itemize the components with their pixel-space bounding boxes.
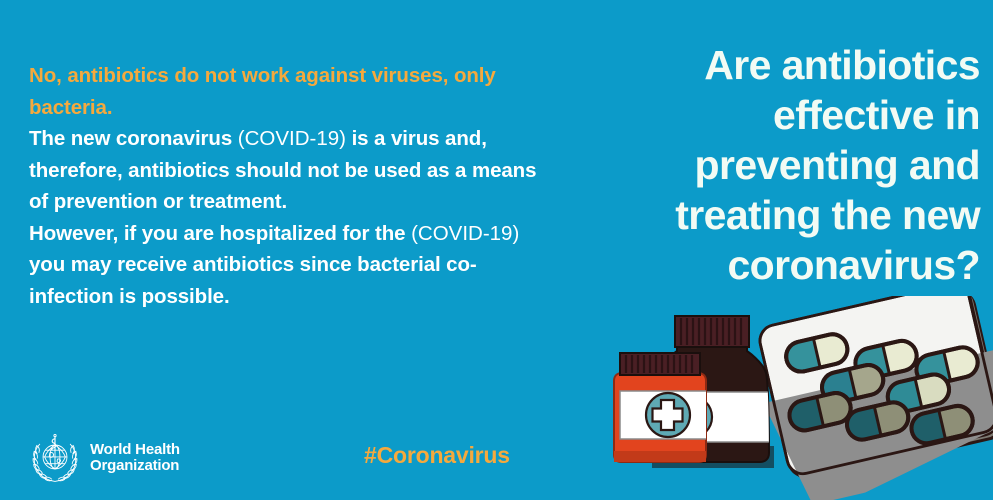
who-infographic-poster: No, antibiotics do not work against viru…	[0, 0, 993, 500]
hospitalization-text-after: you may receive antibiotics since bacter…	[29, 253, 477, 308]
covid-label-2: (COVID-19)	[411, 222, 519, 245]
body-copy: No, antibiotics do not work against viru…	[29, 60, 549, 312]
answer-paragraph: No, antibiotics do not work against viru…	[29, 60, 549, 123]
medicine-illustration	[600, 296, 993, 500]
explanation-paragraph: The new coronavirus (COVID-19) is a viru…	[29, 123, 549, 218]
explanation-text-before: The new coronavirus	[29, 127, 238, 150]
orange-bottle-cross-badge	[646, 393, 690, 437]
medicine-illustration-graphic	[600, 296, 993, 500]
who-wordmark-line-1: World Health	[90, 442, 180, 459]
hospitalization-text-before: However, if you are hospitalized for the	[29, 222, 411, 245]
covid-label-1: (COVID-19)	[238, 127, 346, 150]
blister-pack	[737, 296, 993, 500]
answer-line-1: No, antibiotics do not work against	[29, 64, 366, 87]
who-wordmark: World Health Organization	[90, 442, 180, 475]
who-wordmark-line-2: Organization	[90, 458, 180, 475]
hospitalization-paragraph: However, if you are hospitalized for the…	[29, 218, 549, 313]
who-emblem-icon	[29, 432, 81, 484]
who-logo: World Health Organization	[29, 432, 180, 484]
page-title: Are antibiotics effective in preventing …	[560, 40, 980, 290]
dark-bottle-cap	[675, 316, 749, 347]
hashtag-coronavirus: #Coronavirus	[364, 442, 510, 469]
orange-bottle-cap	[620, 353, 700, 375]
